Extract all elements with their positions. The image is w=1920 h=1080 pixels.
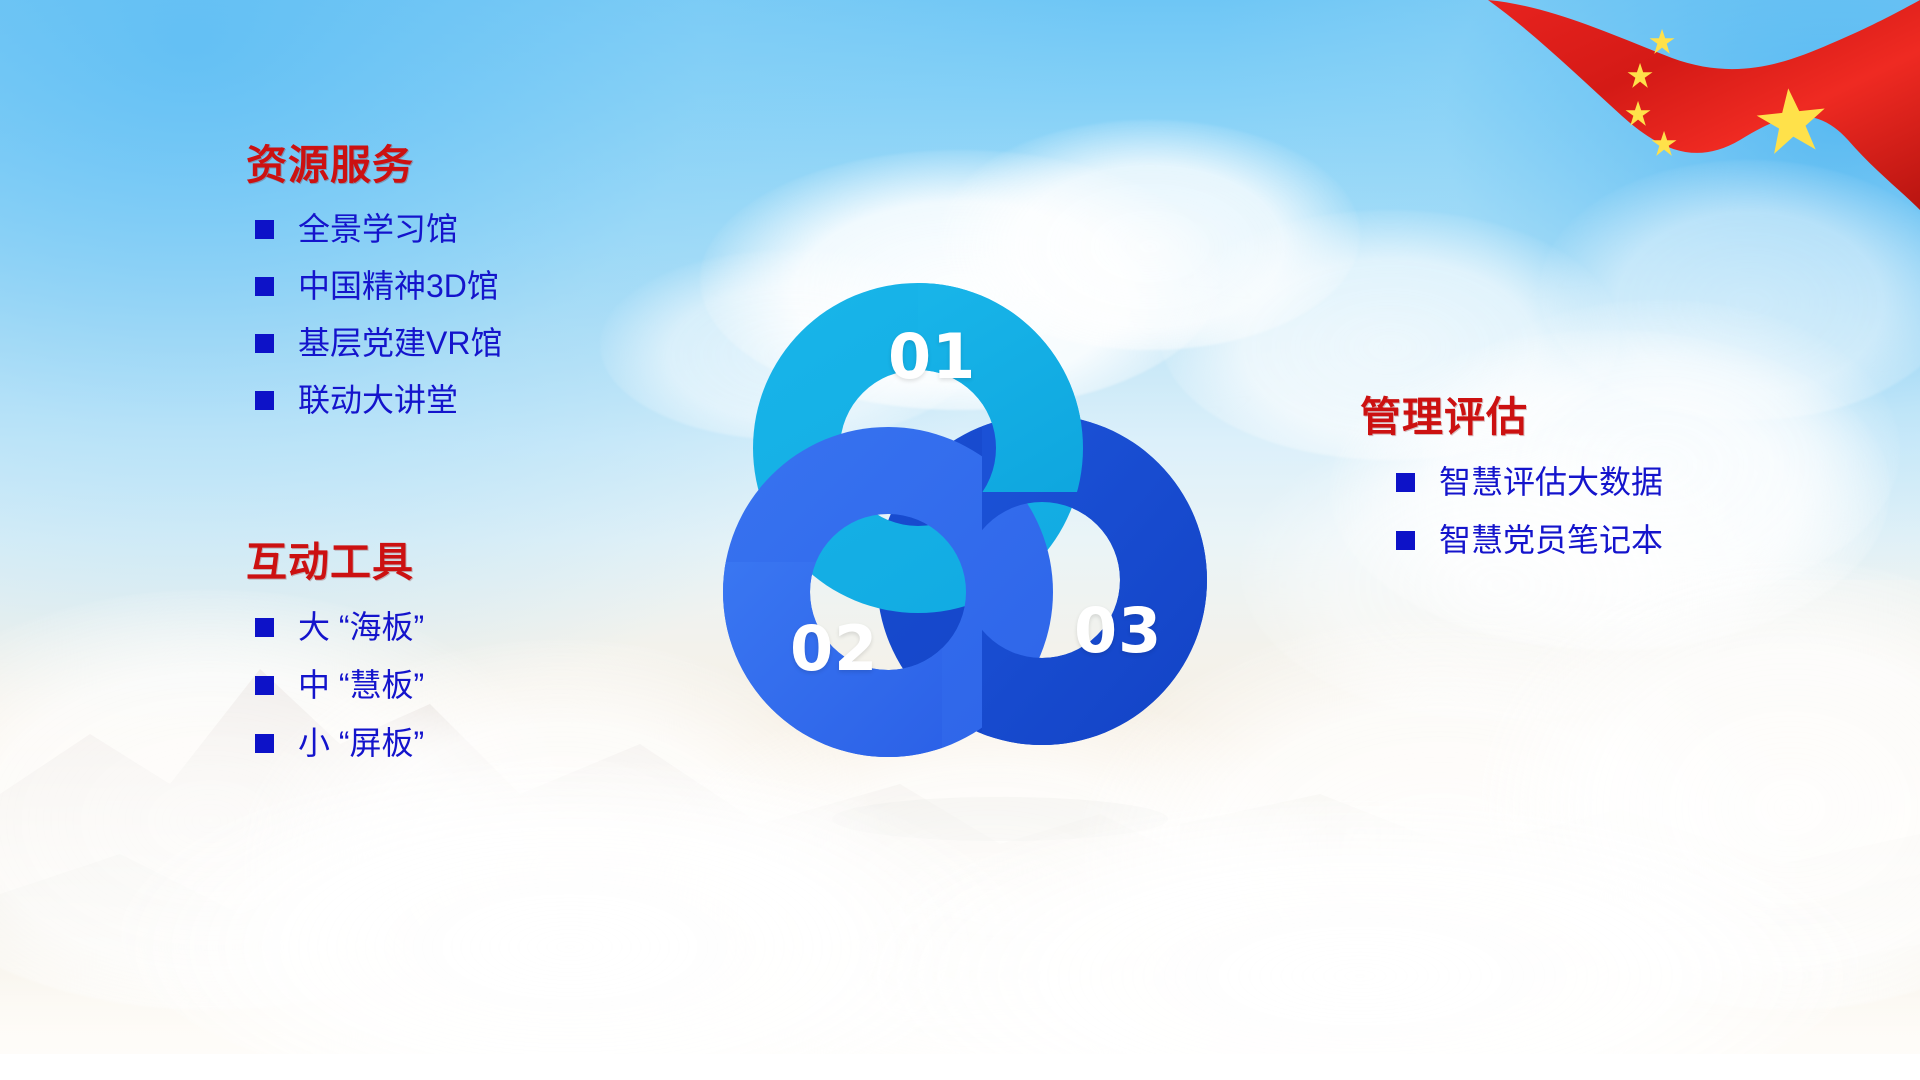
list-item: 中国精神3D馆: [255, 270, 502, 302]
list-item: 基层党建VR馆: [255, 327, 502, 359]
list-item-label: 中 “慧板”: [298, 669, 424, 701]
bottom-white-band: [0, 1054, 1920, 1080]
three-ring-diagram: 01 02 03: [712, 262, 1252, 802]
list-item: 大 “海板”: [255, 611, 424, 643]
square-bullet-icon: [255, 734, 274, 753]
block-title-management-evaluation: 管理评估: [1360, 395, 1663, 440]
list-item-label: 大 “海板”: [298, 611, 424, 643]
list-item-label: 智慧党员笔记本: [1439, 524, 1663, 556]
square-bullet-icon: [1396, 531, 1415, 550]
square-bullet-icon: [255, 676, 274, 695]
list-item: 智慧评估大数据: [1396, 466, 1663, 498]
text-block-interactive-tools: 互动工具 大 “海板” 中 “慧板” 小 “屏板”: [246, 540, 424, 759]
ring-02-weave-over-03: [712, 562, 942, 802]
slide-canvas: 01 02 03 资源服务 全景学习馆 中国精神3D馆 基层党建VR馆 联动大讲…: [0, 0, 1920, 1080]
block-title-interactive-tools: 互动工具: [246, 540, 424, 585]
list-item-label: 小 “屏板”: [298, 727, 424, 759]
square-bullet-icon: [255, 334, 274, 353]
list-item: 智慧党员笔记本: [1396, 524, 1663, 556]
list-item: 联动大讲堂: [255, 384, 502, 416]
list-item-label: 联动大讲堂: [298, 384, 458, 416]
list-item: 全景学习馆: [255, 213, 502, 245]
block-title-resource-service: 资源服务: [246, 143, 502, 188]
ring-01-weave-over-03: [918, 262, 1148, 492]
text-block-resource-service: 资源服务 全景学习馆 中国精神3D馆 基层党建VR馆 联动大讲堂: [246, 143, 502, 416]
china-flag-icon: [1360, 0, 1920, 210]
list-item-label: 智慧评估大数据: [1439, 466, 1663, 498]
list-item-label: 中国精神3D馆: [298, 270, 499, 302]
list-item: 小 “屏板”: [255, 727, 424, 759]
list-item-label: 全景学习馆: [298, 213, 458, 245]
list-item-label: 基层党建VR馆: [298, 327, 502, 359]
ring-svg: [712, 262, 1252, 802]
square-bullet-icon: [255, 618, 274, 637]
square-bullet-icon: [255, 391, 274, 410]
text-block-management-evaluation: 管理评估 智慧评估大数据 智慧党员笔记本: [1360, 395, 1663, 556]
square-bullet-icon: [1396, 473, 1415, 492]
square-bullet-icon: [255, 220, 274, 239]
square-bullet-icon: [255, 277, 274, 296]
list-item: 中 “慧板”: [255, 669, 424, 701]
